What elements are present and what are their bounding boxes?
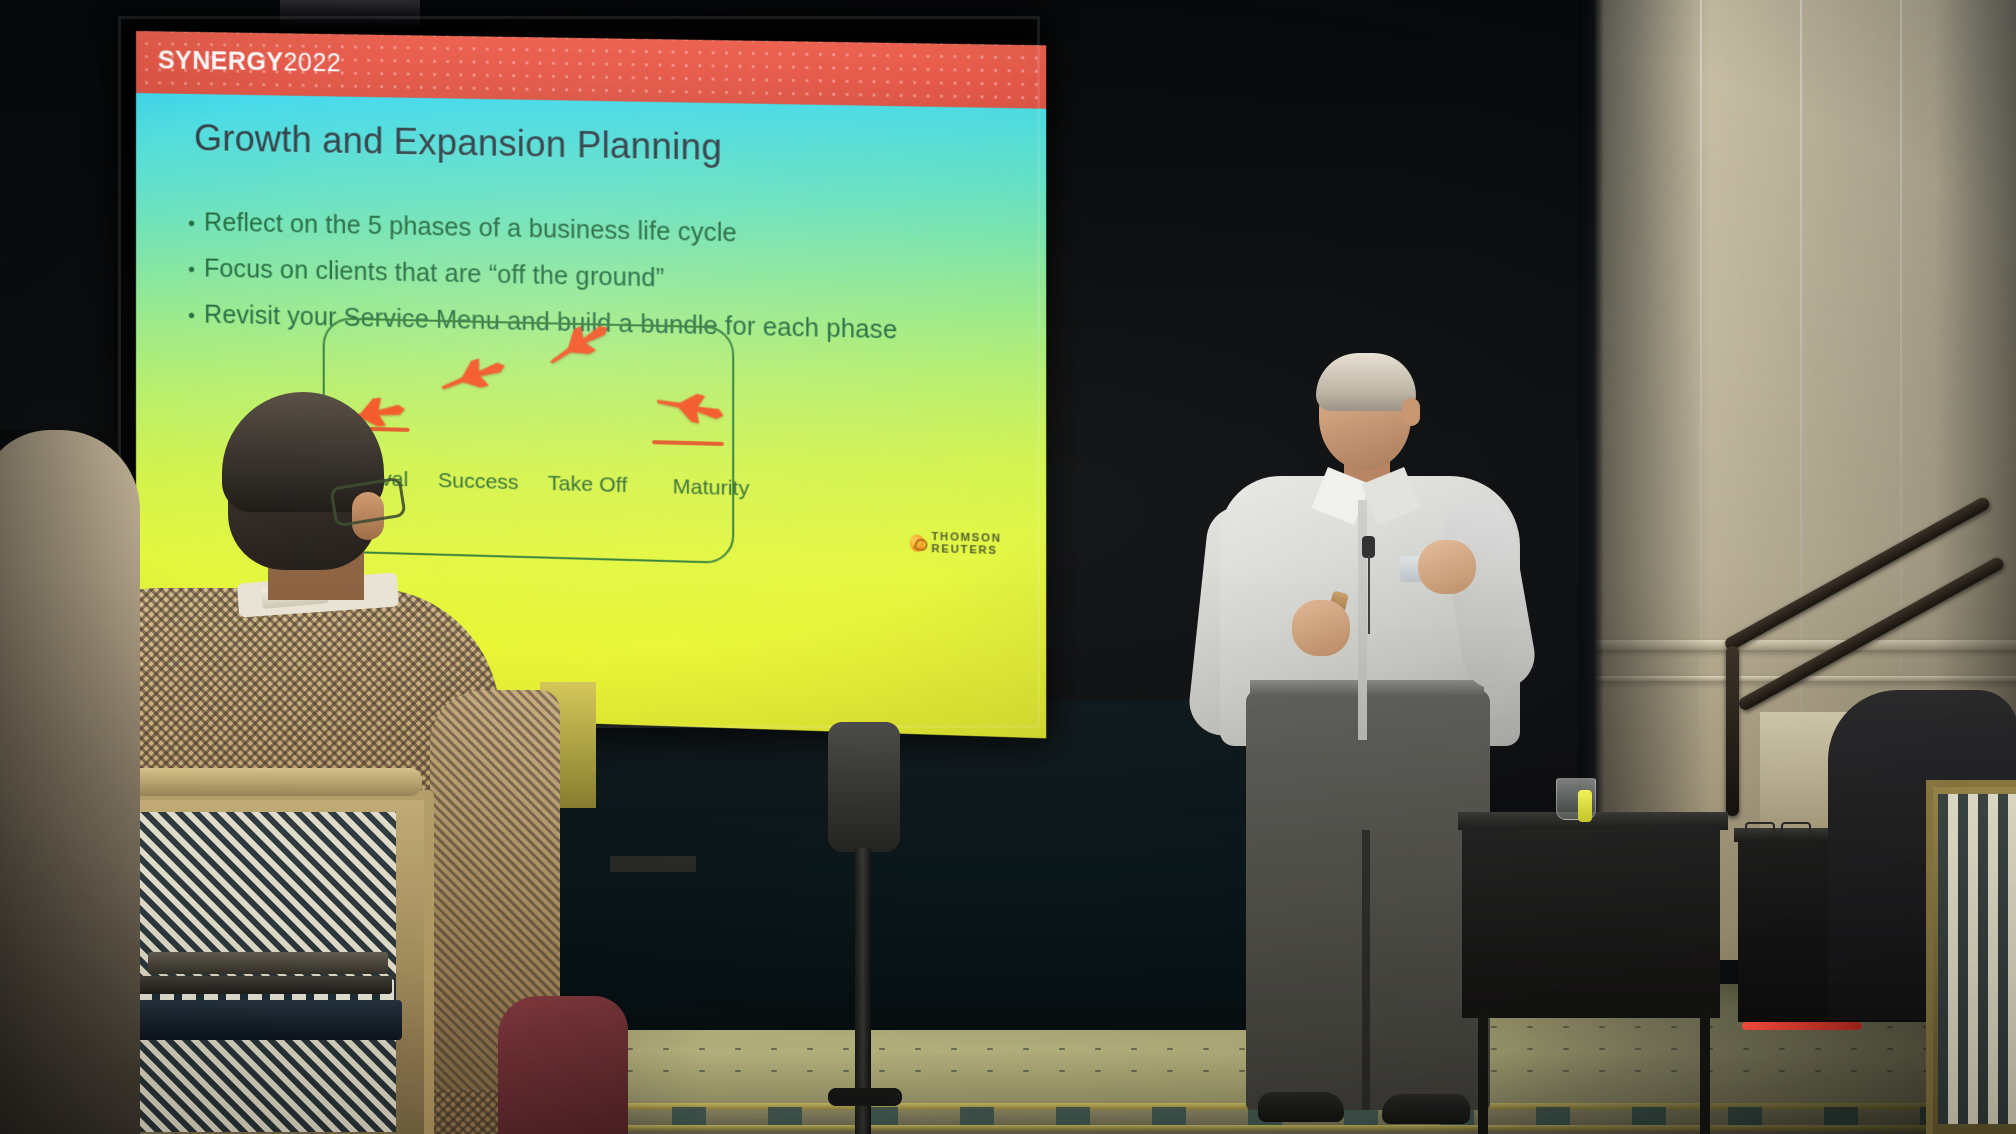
av-table-leg (1700, 1010, 1710, 1134)
attendee-leg (498, 996, 628, 1134)
table-papers (136, 976, 392, 994)
lavalier-mic-cable (1368, 556, 1370, 634)
av-table-body (1462, 828, 1720, 1018)
yellow-highlighter-icon (1578, 790, 1592, 822)
monitor-stand (610, 856, 696, 872)
conference-photo: SYNERGY2022 Growth and Expansion Plannin… (0, 0, 2016, 1134)
laptop-icon (126, 1000, 402, 1040)
speaker-right-shoe (1382, 1094, 1470, 1124)
speaker-left-shoe (1258, 1092, 1344, 1122)
microphone-head (828, 722, 900, 852)
chair-armrest (112, 768, 422, 796)
attendee-left-shadow (0, 430, 140, 1134)
speaker-right-hand (1418, 540, 1476, 594)
eyeglasses-icon (1745, 822, 1811, 832)
speaker-ear (1402, 398, 1420, 426)
speaker-left-hand (1292, 600, 1350, 656)
speaker-belt (1250, 680, 1484, 696)
microphone-stand-base (828, 1088, 902, 1106)
chair-right-upholstery (1938, 794, 2016, 1124)
speaker-leg-seam (1362, 830, 1370, 1110)
handrail-post (1726, 646, 1739, 816)
av-table-leg (1478, 1010, 1488, 1134)
cart-red-light-strip (1742, 1022, 1862, 1030)
lavalier-mic-icon (1362, 536, 1375, 558)
table-papers (148, 952, 388, 974)
